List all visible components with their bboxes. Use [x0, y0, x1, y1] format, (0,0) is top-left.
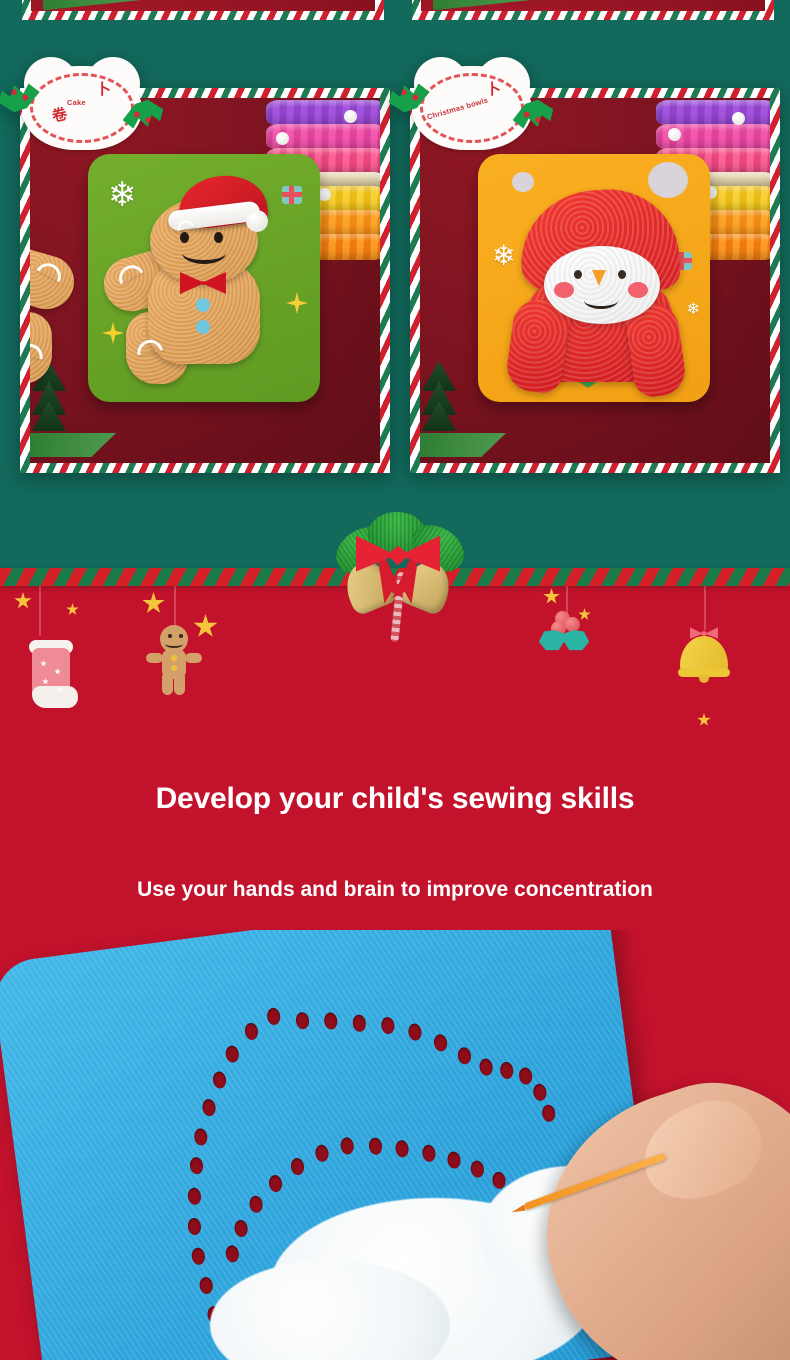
smile: [182, 242, 226, 264]
snowflake-icon: ❄: [687, 302, 700, 318]
eye-left: [574, 270, 582, 279]
page-title: Develop your child's sewing skills: [0, 782, 790, 816]
frame-photo: [421, 0, 765, 11]
bottom-demo-photo: [0, 930, 790, 1360]
promo-page: ❄: [0, 0, 790, 1360]
green-flag-decor: [30, 433, 116, 457]
badge-dashed-ring: [30, 73, 134, 143]
cut-off-product-frame-left: [22, 0, 384, 20]
pompom-decor: [648, 162, 688, 198]
button-decor: [196, 320, 210, 334]
product-card-santa[interactable]: ❄ ❄: [410, 88, 780, 473]
badge-cjk-char-2: 卜: [486, 78, 501, 99]
nose-icon: [592, 270, 606, 286]
hanging-string: [174, 584, 176, 628]
snowflake-icon: ❄: [108, 178, 137, 212]
gift-box-icon: [282, 186, 302, 204]
star-icon: [102, 322, 124, 344]
product-card-gingerbread[interactable]: ❄: [20, 88, 390, 473]
page-subtitle: Use your hands and brain to improve conc…: [0, 878, 790, 902]
snowflake-icon: ❄: [492, 242, 515, 270]
badge-label: Cake: [67, 98, 86, 107]
bell-ornament: [678, 624, 730, 682]
cheek-left: [554, 282, 574, 298]
green-card-decor: [433, 0, 553, 10]
green-card-decor: [43, 0, 163, 10]
hanging-string: [39, 584, 41, 636]
button-decor: [196, 298, 210, 312]
mini-christmas-tree-figurine: [422, 355, 456, 433]
cut-off-product-frame-right: [412, 0, 774, 20]
felt-board-green: ❄: [88, 154, 320, 402]
hat-pompom: [246, 210, 268, 232]
stocking-ornament: [24, 634, 78, 710]
frame-photo: [31, 0, 375, 11]
pompom-decor: [512, 172, 534, 192]
eye-right: [618, 270, 626, 279]
card-badge-christmas-bowls: 卜 Christmas bowls: [398, 60, 546, 156]
cheek-right: [628, 282, 648, 298]
smile: [584, 292, 618, 309]
gingerbread-man-ornament: [146, 625, 202, 695]
wreath-centerpiece: [328, 512, 468, 642]
star-icon: [286, 292, 308, 314]
green-flag-decor: [420, 433, 506, 457]
felt-board-orange: ❄ ❄: [478, 154, 710, 402]
card-badge-cake: 卷 卜 Cake: [8, 60, 156, 156]
badge-cjk-char-2: 卜: [96, 78, 111, 99]
